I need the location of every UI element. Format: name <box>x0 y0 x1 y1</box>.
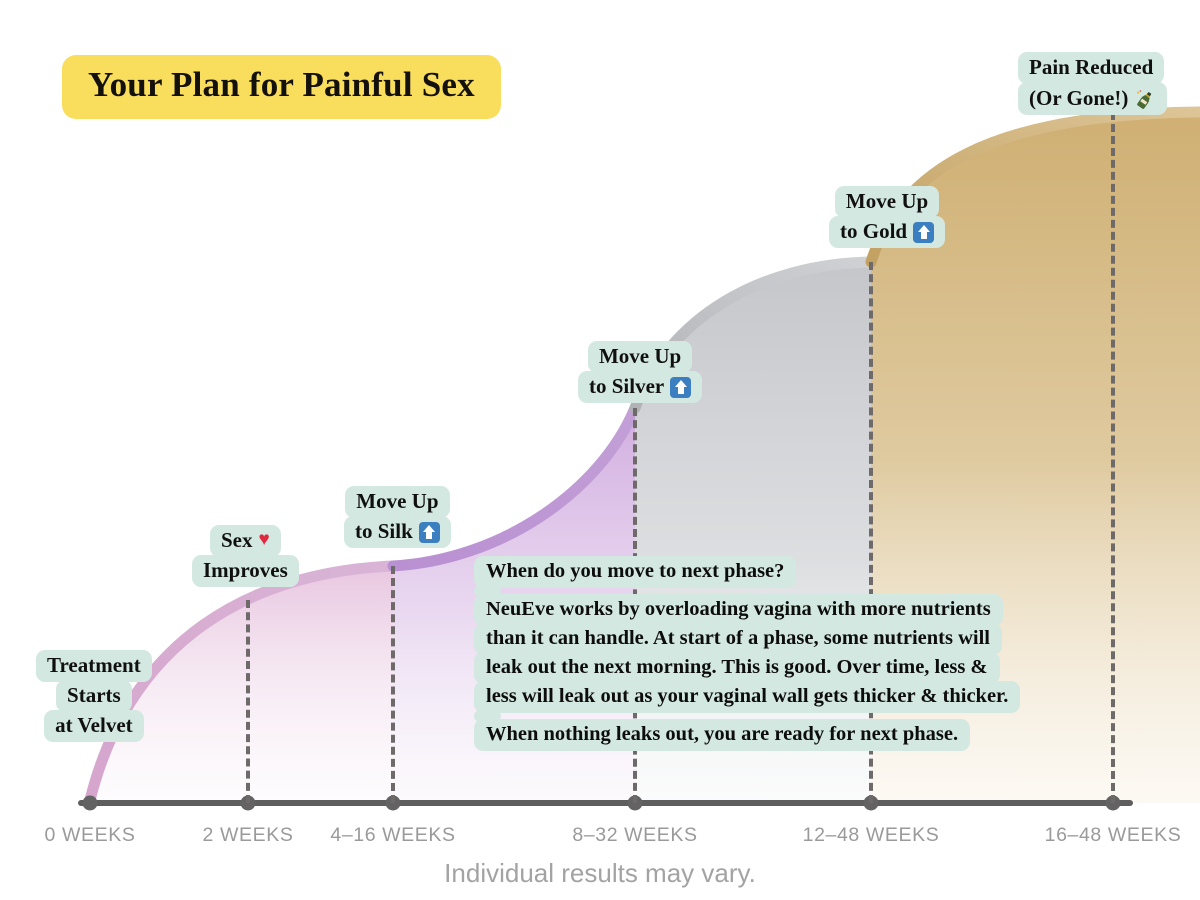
up-arrow-badge-icon <box>913 222 934 243</box>
axis-dashed-line <box>1111 112 1115 803</box>
callout-text: Treatment <box>47 655 141 676</box>
info-line: leak out the next morning. This is good.… <box>474 652 1000 684</box>
callout-line: Move Up <box>835 186 939 218</box>
callout-treatment-starts-at-velvet: TreatmentStartsat Velvet <box>36 650 152 742</box>
callout-pain-reduced-or-gone: Pain Reduced(Or Gone!) <box>1018 52 1167 115</box>
callout-text: (Or Gone!) <box>1029 88 1128 109</box>
next-phase-info-panel: When do you move to next phase? NeuEve w… <box>474 556 1020 751</box>
axis-tick-label: 8–32 WEEKS <box>572 824 697 847</box>
callout-text: Move Up <box>356 491 438 512</box>
heart-icon: ♥ <box>259 530 270 549</box>
info-line: than it can handle. At start of a phase,… <box>474 623 1002 655</box>
callout-move-up-to-silk: Move Upto Silk <box>344 486 451 548</box>
callout-line: Improves <box>192 555 299 587</box>
axis-tick-label: 12–48 WEEKS <box>803 824 940 847</box>
callout-text: Move Up <box>599 346 681 367</box>
callout-line: at Velvet <box>44 710 144 742</box>
callout-line: Treatment <box>36 650 152 682</box>
info-line: When do you move to next phase? <box>474 556 796 588</box>
callout-text: Starts <box>67 685 121 706</box>
infographic-canvas: Your Plan for Painful Sex 0 WEEKS2 WEEKS… <box>0 0 1200 900</box>
callout-sex-improves: Sex♥Improves <box>192 525 299 587</box>
callout-line: Move Up <box>345 486 449 518</box>
info-line: less will leak out as your vaginal wall … <box>474 681 1020 713</box>
callout-text: Move Up <box>846 191 928 212</box>
page-title: Your Plan for Painful Sex <box>62 55 501 119</box>
callout-line: Pain Reduced <box>1018 52 1164 84</box>
callout-line: to Gold <box>829 216 945 248</box>
info-line: When nothing leaks out, you are ready fo… <box>474 719 970 751</box>
callout-text: Improves <box>203 560 288 581</box>
callout-line: to Silver <box>578 371 702 403</box>
info-line: NeuEve works by overloading vagina with … <box>474 594 1003 626</box>
callout-text: Sex <box>221 530 253 551</box>
callout-line: to Silk <box>344 516 451 548</box>
callout-line: (Or Gone!) <box>1018 82 1167 115</box>
champagne-bottle-icon <box>1134 89 1156 111</box>
axis-tick-dot <box>83 796 98 811</box>
axis-dashed-line <box>246 600 250 803</box>
timeline-axis <box>78 800 1133 806</box>
callout-text: Pain Reduced <box>1029 57 1153 78</box>
callout-line: Starts <box>56 680 132 712</box>
axis-tick-label: 4–16 WEEKS <box>330 824 455 847</box>
disclaimer-note: Individual results may vary. <box>444 858 756 889</box>
callout-move-up-to-silver: Move Upto Silver <box>578 341 702 403</box>
callout-line: Move Up <box>588 341 692 373</box>
axis-tick-label: 2 WEEKS <box>203 824 294 847</box>
up-arrow-badge-icon <box>419 522 440 543</box>
up-arrow-badge-icon <box>670 377 691 398</box>
callout-line: Sex♥ <box>210 525 281 557</box>
callout-text: to Silver <box>589 376 664 397</box>
axis-dashed-line <box>391 566 395 803</box>
axis-tick-label: 16–48 WEEKS <box>1045 824 1182 847</box>
callout-text: to Silk <box>355 521 413 542</box>
phase-curves <box>0 0 1200 900</box>
callout-text: at Velvet <box>55 715 133 736</box>
axis-tick-label: 0 WEEKS <box>45 824 136 847</box>
callout-text: to Gold <box>840 221 907 242</box>
callout-move-up-to-gold: Move Upto Gold <box>829 186 945 248</box>
